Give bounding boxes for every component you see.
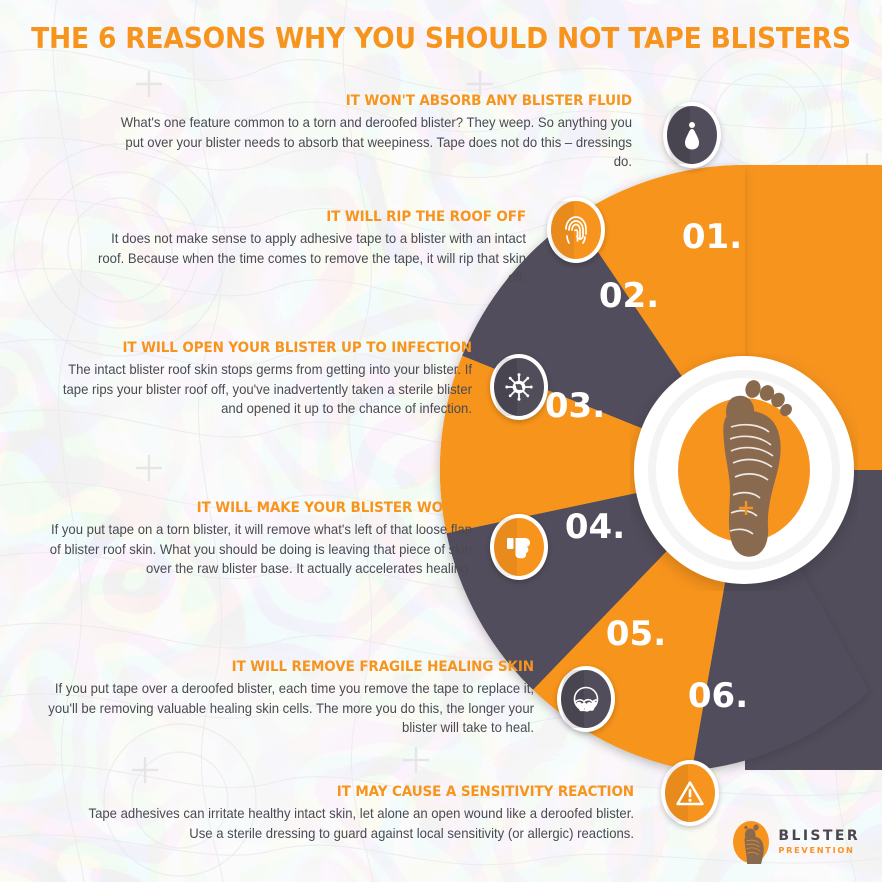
wedge-number-02: 02. <box>599 276 659 316</box>
reason-heading-01: IT WON'T ABSORB ANY BLISTER FLUID <box>127 93 632 109</box>
reason-block-03: IT WILL OPEN YOUR BLISTER UP TO INFECTIO… <box>28 340 472 419</box>
logo-subtitle: PREVENTION <box>778 846 860 854</box>
page-title: THE 6 REASONS WHY YOU SHOULD NOT TAPE BL… <box>31 22 851 55</box>
badge-droplet[interactable] <box>663 102 721 168</box>
germ-icon <box>505 373 533 401</box>
reason-heading-05: IT WILL REMOVE FRAGILE HEALING SKIN <box>53 659 534 675</box>
reason-block-04: IT WILL MAKE YOUR BLISTER WORSE If you p… <box>28 500 472 579</box>
badge-germ[interactable] <box>490 354 548 420</box>
reason-heading-06: IT MAY CAUSE A SENSITIVITY REACTION <box>89 784 634 800</box>
infographic-page: THE 6 REASONS WHY YOU SHOULD NOT TAPE BL… <box>0 0 882 882</box>
logo-name: BLISTER <box>778 829 860 843</box>
reason-heading-04: IT WILL MAKE YOUR BLISTER WORSE <box>50 500 472 516</box>
reason-block-05: IT WILL REMOVE FRAGILE HEALING SKIN If y… <box>28 659 534 738</box>
brand-logo[interactable]: BLISTER PREVENTION <box>732 820 860 864</box>
reason-block-06: IT MAY CAUSE A SENSITIVITY REACTION Tape… <box>60 784 634 843</box>
reason-body-04: If you put tape on a torn blister, it wi… <box>44 520 472 579</box>
fingerprint-icon <box>563 215 589 245</box>
reason-heading-02: IT WILL RIP THE ROOF OFF <box>93 209 526 225</box>
wedge-number-03: 03. <box>545 386 605 426</box>
reason-block-01: IT WON'T ABSORB ANY BLISTER FLUID What's… <box>100 93 632 172</box>
reason-heading-03: IT WILL OPEN YOUR BLISTER UP TO INFECTIO… <box>50 340 472 356</box>
reason-block-02: IT WILL RIP THE ROOF OFF It does not mak… <box>70 209 526 288</box>
badge-fingerprint[interactable] <box>547 197 605 263</box>
wedge-number-06: 06. <box>688 676 748 716</box>
badge-thumbs-down[interactable] <box>490 514 548 580</box>
reason-body-03: The intact blister roof skin stops germs… <box>44 360 472 419</box>
reason-body-01: What's one feature common to a torn and … <box>119 113 632 172</box>
reason-body-05: If you put tape over a deroofed blister,… <box>46 679 534 738</box>
badge-skin-cells[interactable] <box>557 666 615 732</box>
thumbs-down-icon <box>505 533 533 561</box>
droplet-icon <box>679 120 705 150</box>
reason-body-02: It does not make sense to apply adhesive… <box>86 229 526 288</box>
wedge-number-05: 05. <box>606 614 666 654</box>
footprint-logo-icon <box>732 820 770 864</box>
badge-warning[interactable] <box>661 760 719 826</box>
wedge-number-04: 04. <box>565 507 625 547</box>
skin-cells-icon <box>571 684 601 714</box>
warning-triangle-icon <box>676 780 704 807</box>
reason-body-06: Tape adhesives can irritate healthy inta… <box>80 804 634 843</box>
center-medallion <box>630 353 858 591</box>
wedge-number-01: 01. <box>682 217 742 257</box>
